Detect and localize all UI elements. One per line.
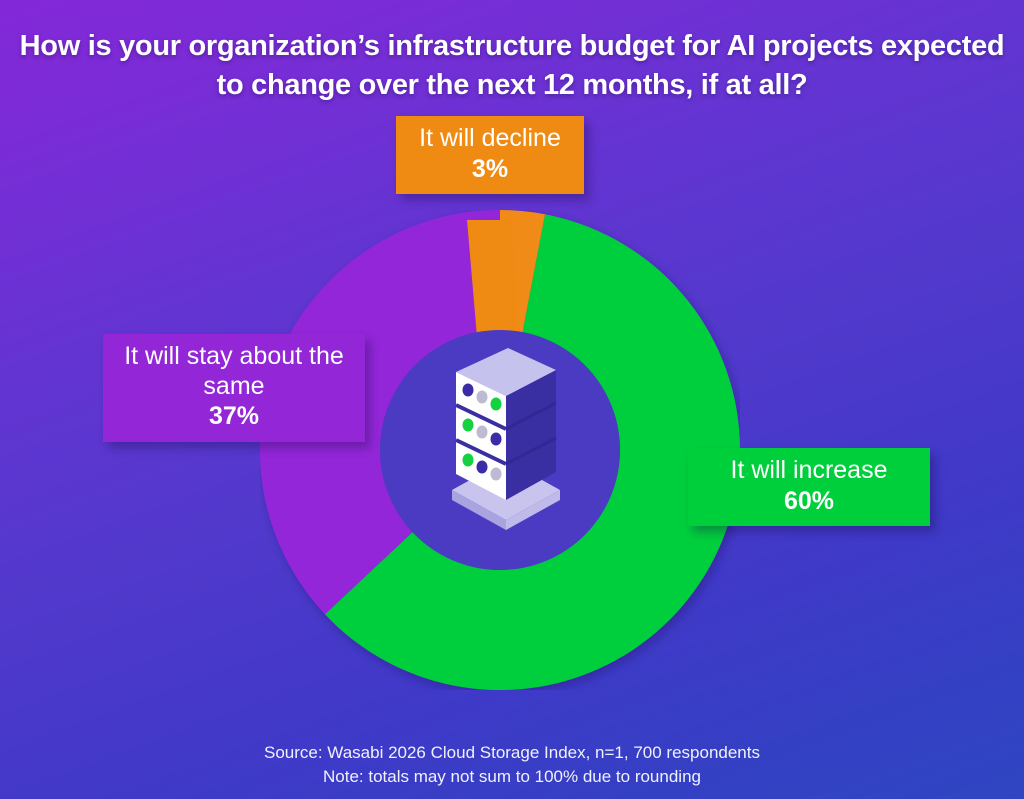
server-rack-icon [444,348,568,538]
server-rack-svg [444,348,568,538]
callout-decline-label: It will decline [410,124,570,154]
callout-same-label: It will stay about the same [117,342,351,401]
callout-increase-label: It will increase [702,456,916,486]
footer: Source: Wasabi 2026 Cloud Storage Index,… [0,741,1024,789]
callout-same-value: 37% [117,402,351,432]
callout-it-will-stay-about-the-same[interactable]: It will stay about the same 37% [103,334,365,442]
callout-it-will-increase[interactable]: It will increase 60% [688,448,930,526]
callout-increase-value: 60% [702,487,916,517]
callout-decline-value: 3% [410,155,570,185]
footer-note-line: Note: totals may not sum to 100% due to … [0,765,1024,789]
callout-it-will-decline[interactable]: It will decline 3% [396,116,584,194]
footer-source-line: Source: Wasabi 2026 Cloud Storage Index,… [0,741,1024,765]
page-title: How is your organization’s infrastructur… [0,27,1024,104]
infographic-canvas: How is your organization’s infrastructur… [0,0,1024,799]
